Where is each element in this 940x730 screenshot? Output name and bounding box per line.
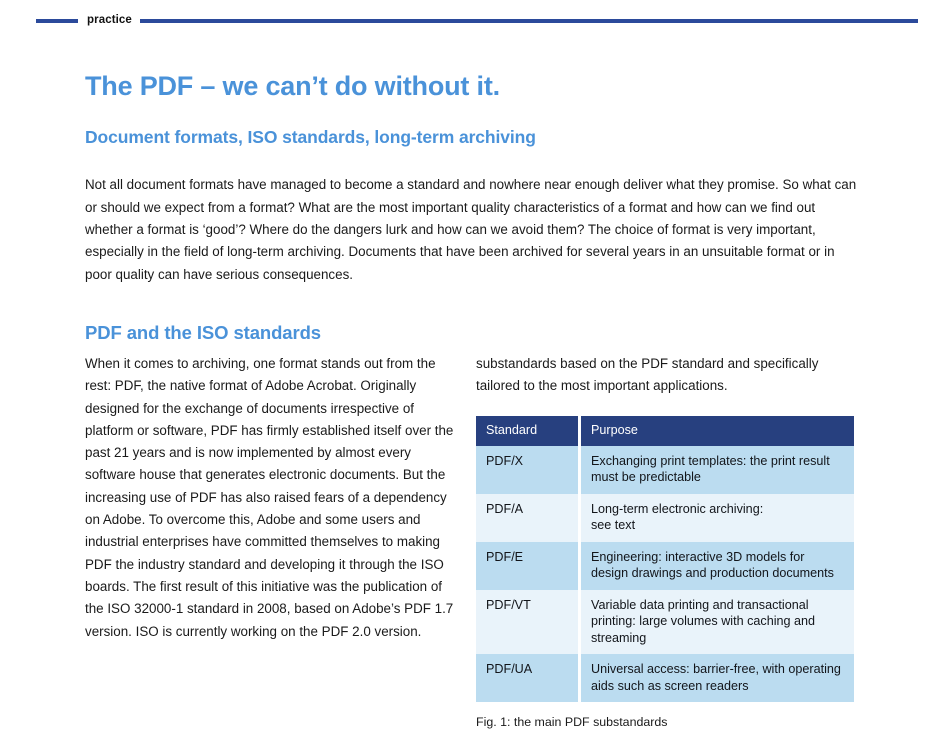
section-heading: PDF and the ISO standards bbox=[85, 322, 321, 344]
cell-purpose: Variable data printing and transactional… bbox=[580, 590, 855, 655]
figure-caption: Fig. 1: the main PDF substandards bbox=[476, 714, 854, 730]
article-subhead: Document formats, ISO standards, long-te… bbox=[85, 127, 536, 148]
cell-standard: PDF/E bbox=[476, 542, 580, 590]
cell-purpose: Long-term electronic archiving: see text bbox=[580, 494, 855, 542]
cell-purpose: Universal access: barrier-free, with ope… bbox=[580, 654, 855, 702]
cell-purpose: Exchanging print templates: the print re… bbox=[580, 446, 855, 494]
column-header-purpose: Purpose bbox=[580, 416, 855, 446]
table-row: PDF/E Engineering: interactive 3D models… bbox=[476, 542, 854, 590]
table-row: PDF/X Exchanging print templates: the pr… bbox=[476, 446, 854, 494]
cell-standard: PDF/VT bbox=[476, 590, 580, 655]
article-headline: The PDF – we can’t do without it. bbox=[85, 71, 500, 102]
article-intro-paragraph: Not all document formats have managed to… bbox=[85, 174, 857, 285]
pdf-substandards-table: Standard Purpose PDF/X Exchanging print … bbox=[476, 416, 854, 703]
table-row: PDF/UA Universal access: barrier-free, w… bbox=[476, 654, 854, 702]
cell-standard: PDF/A bbox=[476, 494, 580, 542]
running-head-label: practice bbox=[78, 15, 140, 27]
cell-standard: PDF/X bbox=[476, 446, 580, 494]
body-column-left: When it comes to archiving, one format s… bbox=[85, 353, 460, 643]
running-head-rule-left bbox=[36, 19, 78, 23]
body-column-right: substandards based on the PDF standard a… bbox=[476, 353, 854, 730]
table-body: PDF/X Exchanging print templates: the pr… bbox=[476, 446, 854, 703]
column-header-standard: Standard bbox=[476, 416, 580, 446]
cell-standard: PDF/UA bbox=[476, 654, 580, 702]
running-head: practice bbox=[0, 12, 940, 30]
body-column-right-text: substandards based on the PDF standard a… bbox=[476, 353, 854, 398]
table-header-row: Standard Purpose bbox=[476, 416, 854, 446]
running-head-rule-right bbox=[140, 19, 918, 23]
table-row: PDF/VT Variable data printing and transa… bbox=[476, 590, 854, 655]
table-row: PDF/A Long-term electronic archiving: se… bbox=[476, 494, 854, 542]
cell-purpose: Engineering: interactive 3D models for d… bbox=[580, 542, 855, 590]
body-column-left-text: When it comes to archiving, one format s… bbox=[85, 353, 460, 643]
